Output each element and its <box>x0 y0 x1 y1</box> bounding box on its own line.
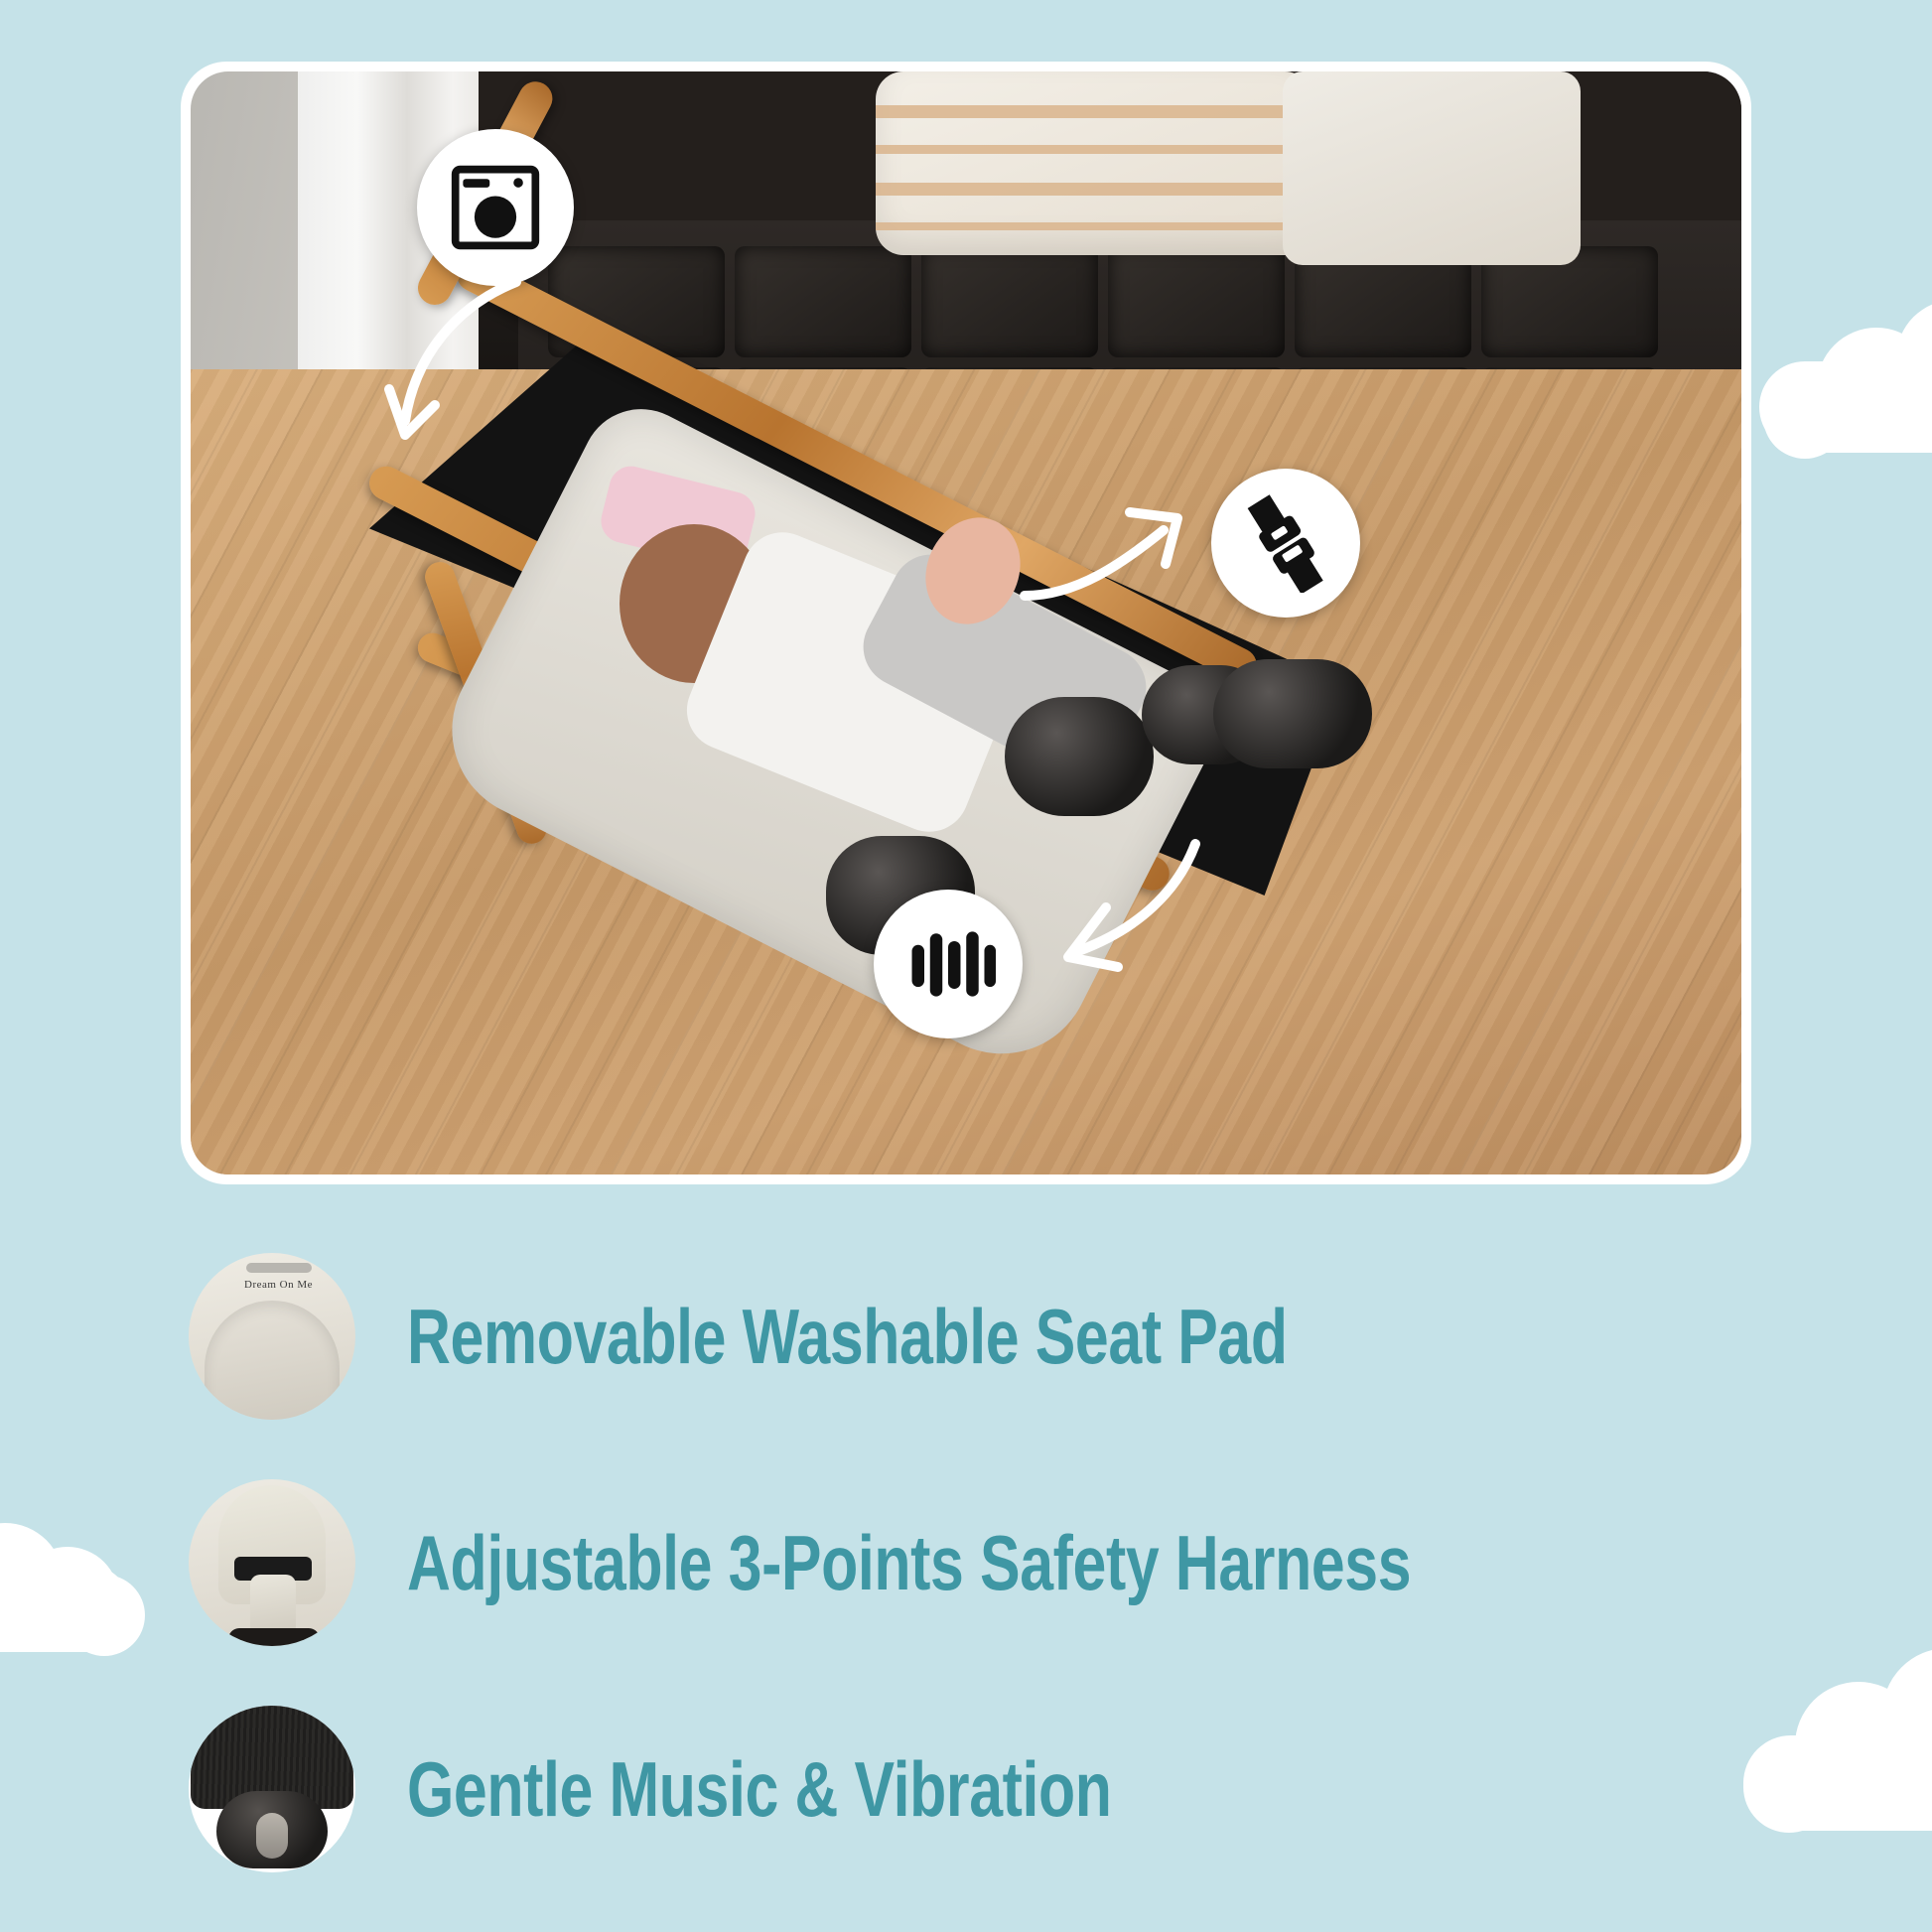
cloud-top-right <box>1759 266 1932 455</box>
music-vibration-module-thumbnail <box>189 1706 355 1872</box>
feature-label: Removable Washable Seat Pad <box>407 1298 1288 1375</box>
feature-row: Dream On Me Removable Washable Seat Pad <box>181 1223 1868 1449</box>
vibration-module <box>1005 697 1154 816</box>
infographic-canvas: Dream On Me Removable Washable Seat Pad … <box>0 0 1932 1932</box>
feature-row: Adjustable 3-Points Safety Harness <box>181 1449 1868 1676</box>
cloud-mid-left <box>0 1479 157 1658</box>
feature-list: Dream On Me Removable Washable Seat Pad … <box>181 1223 1868 1902</box>
feature-row: Gentle Music & Vibration <box>181 1676 1868 1902</box>
sound-wave-icon <box>900 916 996 1012</box>
badge-washable-seat-pad[interactable] <box>417 129 574 286</box>
badge-music-vibration[interactable] <box>874 890 1023 1038</box>
frame-foot-right <box>1213 659 1372 768</box>
safety-harness-thumbnail <box>189 1479 355 1646</box>
seat-pad-thumbnail: Dream On Me <box>189 1253 355 1420</box>
baby-bouncer <box>310 270 1362 1054</box>
brand-logo-text: Dream On Me <box>244 1279 313 1291</box>
seatbelt-buckle-icon <box>1236 493 1335 593</box>
washing-machine-icon <box>448 160 543 255</box>
hero-photo <box>191 71 1741 1174</box>
side-throw-pillow <box>1283 71 1581 265</box>
feature-label: Adjustable 3-Points Safety Harness <box>407 1524 1411 1601</box>
striped-throw-pillow <box>876 71 1312 255</box>
badge-safety-harness[interactable] <box>1211 469 1360 618</box>
feature-label: Gentle Music & Vibration <box>407 1750 1112 1828</box>
